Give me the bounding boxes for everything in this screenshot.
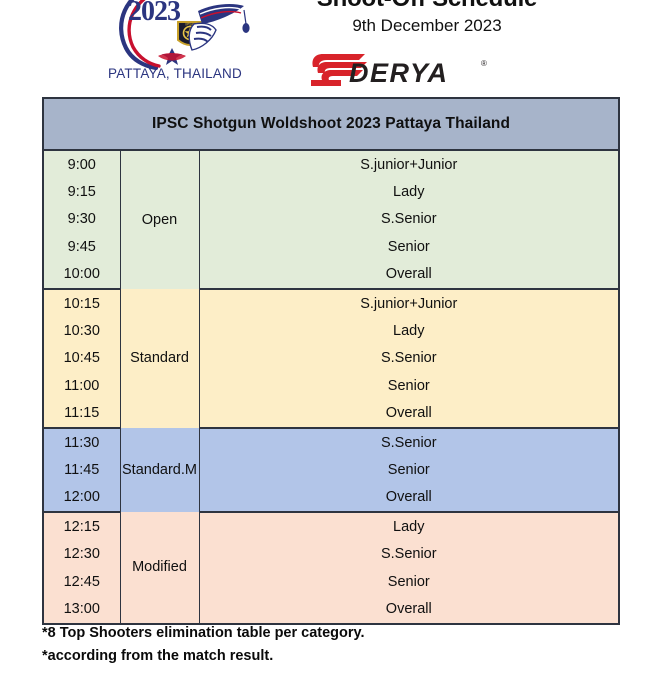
row-category: S.junior+Junior bbox=[199, 150, 619, 178]
svg-text:2023: 2023 bbox=[128, 0, 181, 27]
division-label: Standard.M bbox=[120, 428, 199, 512]
event-date: 9th December 2023 bbox=[262, 15, 592, 37]
table-title-row: IPSC Shotgun Woldshoot 2023 Pattaya Thai… bbox=[43, 98, 619, 150]
title-block: Shoot-Off Schedule 9th December 2023 bbox=[262, 0, 592, 37]
row-time: 12:15 bbox=[43, 512, 120, 540]
derya-logo: DERYA ® bbox=[305, 52, 495, 88]
row-time: 10:45 bbox=[43, 345, 120, 372]
row-time: 9:45 bbox=[43, 233, 120, 260]
table-row[interactable]: 12:15 Modified Lady bbox=[43, 512, 619, 540]
row-category: Senior bbox=[199, 456, 619, 483]
row-category: S.Senior bbox=[199, 206, 619, 233]
table-row[interactable]: 9:00 Open S.junior+Junior bbox=[43, 150, 619, 178]
page-title: Shoot-Off Schedule bbox=[262, 0, 592, 12]
footnote-line: *according from the match result. bbox=[42, 645, 622, 668]
row-time: 13:00 bbox=[43, 595, 120, 623]
row-category: S.Senior bbox=[199, 345, 619, 372]
svg-text:DERYA: DERYA bbox=[349, 58, 449, 88]
row-time: 12:30 bbox=[43, 540, 120, 567]
row-category: Overall bbox=[199, 400, 619, 428]
row-time: 11:15 bbox=[43, 400, 120, 428]
row-category: Overall bbox=[199, 595, 619, 623]
row-category: Lady bbox=[199, 317, 619, 344]
row-category: S.Senior bbox=[199, 540, 619, 567]
footnote-line: *8 Top Shooters elimination table per ca… bbox=[42, 622, 622, 645]
derya-wordmark-icon: DERYA ® bbox=[305, 52, 495, 88]
derya-text-icon: DERYA ® bbox=[349, 58, 487, 88]
row-time: 9:30 bbox=[43, 206, 120, 233]
row-time: 11:30 bbox=[43, 428, 120, 456]
row-category: Senior bbox=[199, 233, 619, 260]
footnotes: *8 Top Shooters elimination table per ca… bbox=[42, 622, 622, 668]
logo-caption: PATTAYA, THAILAND bbox=[100, 66, 250, 81]
table-row[interactable]: 11:30 Standard.M S.Senior bbox=[43, 428, 619, 456]
row-time: 11:00 bbox=[43, 372, 120, 399]
page-header: WORLD SHOOT 2023 IPSC bbox=[0, 0, 652, 95]
row-category: Senior bbox=[199, 568, 619, 595]
row-category: Overall bbox=[199, 484, 619, 512]
row-time: 9:00 bbox=[43, 150, 120, 178]
table-title: IPSC Shotgun Woldshoot 2023 Pattaya Thai… bbox=[43, 98, 619, 150]
row-category: Overall bbox=[199, 261, 619, 289]
division-label: Modified bbox=[120, 512, 199, 624]
shoot-off-schedule-table: IPSC Shotgun Woldshoot 2023 Pattaya Thai… bbox=[42, 97, 620, 625]
row-time: 10:15 bbox=[43, 289, 120, 317]
row-category: Lady bbox=[199, 512, 619, 540]
row-time: 11:45 bbox=[43, 456, 120, 483]
row-category: Lady bbox=[199, 178, 619, 205]
row-time: 12:45 bbox=[43, 568, 120, 595]
row-time: 12:00 bbox=[43, 484, 120, 512]
world-shoot-emblem-icon: WORLD SHOOT 2023 IPSC bbox=[100, 0, 250, 70]
row-category: Senior bbox=[199, 372, 619, 399]
ipsc-world-shoot-2023-logo: WORLD SHOOT 2023 IPSC bbox=[100, 0, 250, 93]
row-time: 10:00 bbox=[43, 261, 120, 289]
row-time: 10:30 bbox=[43, 317, 120, 344]
row-category: S.Senior bbox=[199, 428, 619, 456]
division-label: Standard bbox=[120, 289, 199, 428]
division-label: Open bbox=[120, 150, 199, 289]
row-category: S.junior+Junior bbox=[199, 289, 619, 317]
row-time: 9:15 bbox=[43, 178, 120, 205]
table-row[interactable]: 10:15 Standard S.junior+Junior bbox=[43, 289, 619, 317]
svg-text:®: ® bbox=[481, 59, 487, 68]
